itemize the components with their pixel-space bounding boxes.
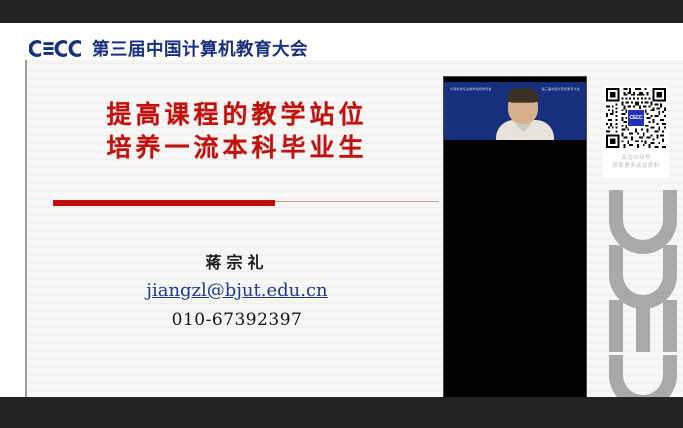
title-underline <box>53 199 439 206</box>
letterbox-band-top <box>0 0 683 23</box>
presentation-page: 第三届中国计算机教育大会 提高课程的教学站位 培养一流本科毕业生 蒋宗礼 jia… <box>0 23 683 397</box>
speaker-avatar <box>496 88 556 140</box>
conference-header: 第三届中国计算机教育大会 <box>0 23 683 60</box>
slide-title-block: 提高课程的教学站位 培养一流本科毕业生 <box>27 98 447 164</box>
speaker-video-panel[interactable]: 计算机类专业教学指导委员会 第三届中国计算机教育大会 <box>443 76 587 411</box>
avatar-hair <box>507 88 539 102</box>
title-underline-thick <box>53 200 275 206</box>
slide-title-line-1: 提高课程的教学站位 <box>27 98 447 131</box>
cecc-logo-icon <box>29 39 86 58</box>
speaker-video-feed[interactable]: 计算机类专业教学指导委员会 第三届中国计算机教育大会 <box>444 82 586 140</box>
video-overlay-left: 计算机类专业教学指导委员会 <box>450 87 492 91</box>
qr-caption-line-1: 关注公众号 <box>603 154 669 162</box>
speaker-name: 蒋宗礼 <box>27 250 447 276</box>
speaker-email-link[interactable]: jiangzl@bjut.edu.cn <box>146 276 327 306</box>
slide-title-line-2: 培养一流本科毕业生 <box>27 131 447 164</box>
letterbox-band-bottom <box>0 397 683 428</box>
conference-title: 第三届中国计算机教育大会 <box>92 36 308 61</box>
qr-card: CECC 关注公众号 获取更多会议资料 <box>603 86 669 178</box>
avatar-glasses <box>511 102 535 108</box>
speaker-phone: 010-67392397 <box>27 306 447 334</box>
qr-code-image[interactable]: CECC <box>604 86 668 150</box>
screen-root: 第三届中国计算机教育大会 提高课程的教学站位 培养一流本科毕业生 蒋宗礼 jia… <box>0 0 683 428</box>
speaker-block: 蒋宗礼 jiangzl@bjut.edu.cn 010-67392397 <box>27 250 447 334</box>
qr-center-logo: CECC <box>627 109 645 127</box>
qr-caption: 关注公众号 获取更多会议资料 <box>603 154 669 170</box>
cecc-watermark-icon <box>597 190 683 397</box>
qr-caption-line-2: 获取更多会议资料 <box>603 162 669 170</box>
